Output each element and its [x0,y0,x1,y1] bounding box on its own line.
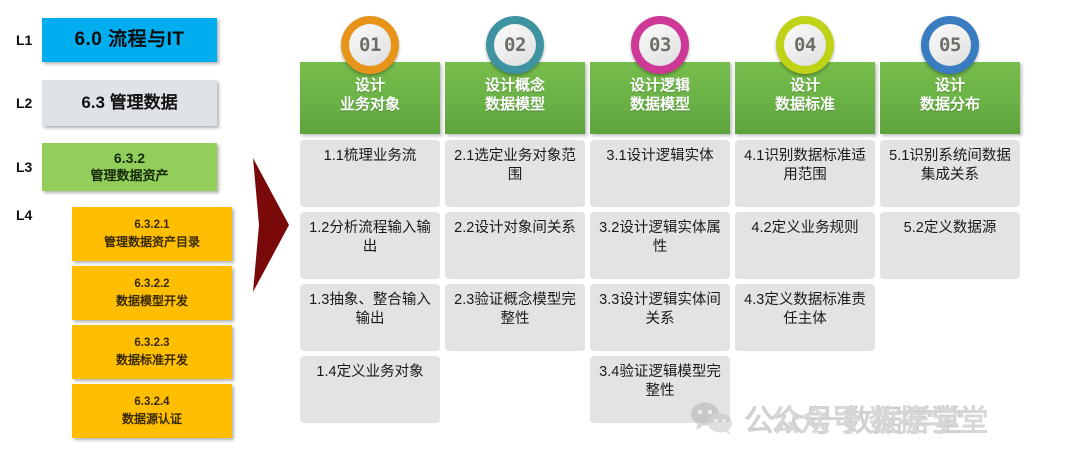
column-header-2-line2: 数据模型 [485,95,545,114]
l4-item-3[interactable]: 6.3.2.3 数据标准开发 [72,325,232,379]
slide-canvas: L1 6.0 流程与IT L2 6.3 管理数据 L3 6.3.2 管理数据资产… [0,0,1065,461]
process-cell[interactable]: 5.1识别系统间数据集成关系 [880,140,1020,207]
process-cell-empty [880,356,1020,423]
level-box-l2-label: 6.3 管理数据 [81,92,177,113]
process-cell-text: 2.2设计对象间关系 [451,219,579,238]
l4-item-1-number: 6.3.2.1 [134,218,169,232]
column-header-3-line2: 数据模型 [630,95,690,114]
process-cell-text: 3.1设计逻辑实体 [596,147,724,166]
process-grid: 01 设计 业务对象 1.1梳理业务流 1.2分析流程输入输出 1.3抽象、整合… [300,0,1065,461]
hierarchy-row-l3: L3 6.3.2 管理数据资产 [0,143,217,191]
step-badge-2-number: 02 [494,24,536,66]
process-cell[interactable]: 1.4定义业务对象 [300,356,440,423]
right-arrow-icon [253,158,289,292]
process-cell[interactable]: 3.3设计逻辑实体间关系 [590,284,730,351]
l4-item-4-label: 数据源认证 [122,412,182,427]
column-cells-1: 1.1梳理业务流 1.2分析流程输入输出 1.3抽象、整合输入输出 1.4定义业… [300,140,440,428]
step-badge-1[interactable]: 01 [341,16,399,74]
process-cell-empty [880,284,1020,351]
process-cell[interactable]: 2.3验证概念模型完整性 [445,284,585,351]
step-badge-1-number: 01 [349,24,391,66]
process-cell-text: 1.4定义业务对象 [306,363,434,382]
process-cell-text: 2.1选定业务对象范围 [451,147,579,185]
process-cell[interactable]: 1.3抽象、整合输入输出 [300,284,440,351]
process-cell[interactable]: 2.2设计对象间关系 [445,212,585,279]
hierarchy-row-l4: L4 [0,207,42,223]
level-tag-l2: L2 [0,95,42,111]
process-cell-text: 2.3验证概念模型完整性 [451,291,579,329]
l4-item-1-label: 管理数据资产目录 [104,235,200,250]
process-cell[interactable]: 4.2定义业务规则 [735,212,875,279]
process-cell[interactable]: 5.2定义数据源 [880,212,1020,279]
process-cell-text: 1.2分析流程输入输出 [306,219,434,257]
process-cell[interactable]: 1.2分析流程输入输出 [300,212,440,279]
step-badge-5[interactable]: 05 [921,16,979,74]
process-cell[interactable]: 3.4验证逻辑模型完整性 [590,356,730,423]
process-cell[interactable]: 3.2设计逻辑实体属性 [590,212,730,279]
l4-item-4-number: 6.3.2.4 [134,395,169,409]
hierarchy-row-l2: L2 6.3 管理数据 [0,80,217,126]
level-box-l1-label: 6.0 流程与IT [74,28,184,52]
column-header-3-line1: 设计逻辑 [630,76,690,95]
process-cell-text: 3.2设计逻辑实体属性 [596,219,724,257]
process-cell-text: 3.3设计逻辑实体间关系 [596,291,724,329]
level-box-l3-label: 管理数据资产 [90,168,168,184]
level-tag-l3: L3 [0,159,42,175]
level-tag-l4: L4 [0,207,42,223]
column-cells-2: 2.1选定业务对象范围 2.2设计对象间关系 2.3验证概念模型完整性 [445,140,585,428]
column-cells-3: 3.1设计逻辑实体 3.2设计逻辑实体属性 3.3设计逻辑实体间关系 3.4验证… [590,140,730,428]
l4-item-3-label: 数据标准开发 [116,353,188,368]
column-header-4-line1: 设计 [790,76,820,95]
step-badge-3-number: 03 [639,24,681,66]
level-box-l3-number: 6.3.2 [114,150,145,168]
process-cell-text: 3.4验证逻辑模型完整性 [596,363,724,401]
level-box-l3[interactable]: 6.3.2 管理数据资产 [42,143,217,191]
level-box-l1[interactable]: 6.0 流程与IT [42,18,217,62]
step-badge-2[interactable]: 02 [486,16,544,74]
process-cell-text: 4.3定义数据标准责任主体 [741,291,869,329]
process-cell-empty [445,356,585,423]
l4-item-4[interactable]: 6.3.2.4 数据源认证 [72,384,232,438]
process-cell[interactable]: 3.1设计逻辑实体 [590,140,730,207]
column-cells-5: 5.1识别系统间数据集成关系 5.2定义数据源 [880,140,1020,428]
process-cell[interactable]: 1.1梳理业务流 [300,140,440,207]
column-header-1-line1: 设计 [355,76,385,95]
l4-item-3-number: 6.3.2.3 [134,336,169,350]
step-badge-4-number: 04 [784,24,826,66]
process-cell[interactable]: 4.3定义数据标准责任主体 [735,284,875,351]
step-badge-4[interactable]: 04 [776,16,834,74]
step-badge-5-number: 05 [929,24,971,66]
column-header-5-line2: 数据分布 [920,95,980,114]
l4-item-1[interactable]: 6.3.2.1 管理数据资产目录 [72,207,232,261]
process-cell[interactable]: 2.1选定业务对象范围 [445,140,585,207]
column-header-4-line2: 数据标准 [775,95,835,114]
process-cell-empty [735,356,875,423]
process-cell-text: 1.1梳理业务流 [306,147,434,166]
step-badge-3[interactable]: 03 [631,16,689,74]
l4-item-2[interactable]: 6.3.2.2 数据模型开发 [72,266,232,320]
hierarchy-panel: L1 6.0 流程与IT L2 6.3 管理数据 L3 6.3.2 管理数据资产… [0,0,250,461]
column-cells-4: 4.1识别数据标准适用范围 4.2定义业务规则 4.3定义数据标准责任主体 [735,140,875,428]
column-header-2-line1: 设计概念 [485,76,545,95]
l4-item-2-label: 数据模型开发 [116,294,188,309]
process-cell-text: 4.1识别数据标准适用范围 [741,147,869,185]
level-box-l2[interactable]: 6.3 管理数据 [42,80,217,126]
process-cell-text: 5.1识别系统间数据集成关系 [886,147,1014,185]
process-cell-text: 4.2定义业务规则 [741,219,869,238]
process-cell-text: 5.2定义数据源 [886,219,1014,238]
hierarchy-row-l1: L1 6.0 流程与IT [0,18,217,62]
column-header-5-line1: 设计 [935,76,965,95]
column-header-1-line2: 业务对象 [340,95,400,114]
process-cell-text: 1.3抽象、整合输入输出 [306,291,434,329]
level-tag-l1: L1 [0,32,42,48]
l4-item-2-number: 6.3.2.2 [134,277,169,291]
process-cell[interactable]: 4.1识别数据标准适用范围 [735,140,875,207]
